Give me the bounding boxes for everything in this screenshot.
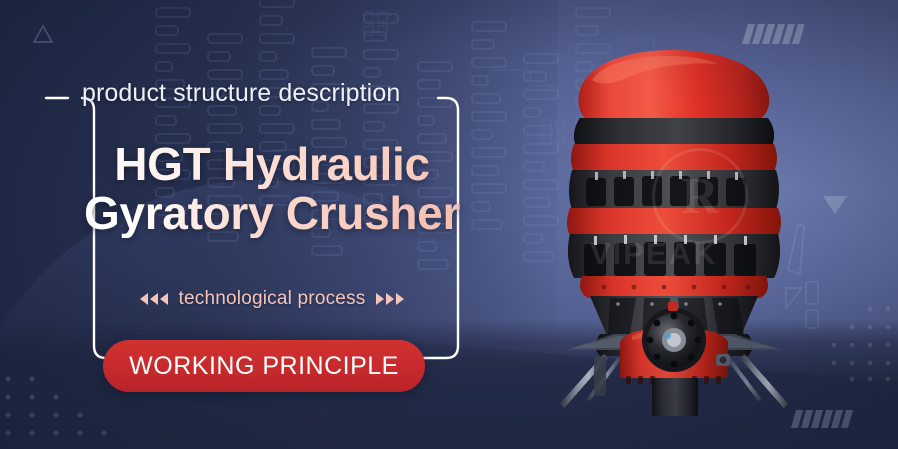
page-title: HGT Hydraulic Gyratory Crusher [62, 140, 482, 238]
headline-line-2: Gyratory Crusher [62, 189, 482, 238]
headline-line-1: HGT Hydraulic [62, 140, 482, 189]
process-label: technological process [179, 288, 366, 310]
kicker-text: product structure description [82, 79, 400, 108]
arrows-left-icon [140, 293, 168, 305]
technological-process-row: technological process [62, 288, 482, 310]
product-banner: R VIPEAK product structure description H… [0, 0, 898, 449]
arrows-right-icon [376, 293, 404, 305]
working-principle-button[interactable]: WORKING PRINCIPLE [103, 340, 425, 392]
